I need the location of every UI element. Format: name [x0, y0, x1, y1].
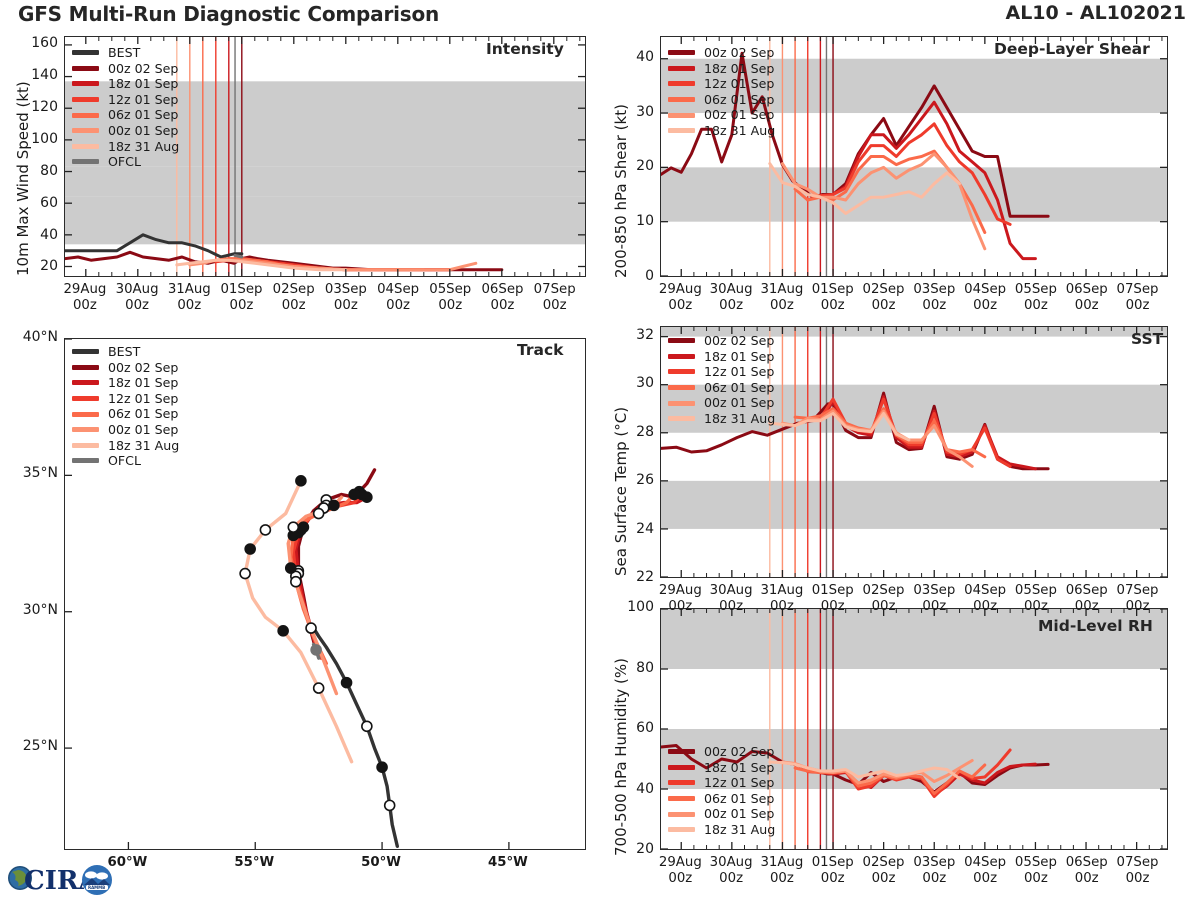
legend-item: 12z 01 Sep	[668, 364, 775, 380]
legend-label: 00z 01 Sep	[108, 123, 178, 139]
legend-label: 00z 01 Sep	[704, 107, 774, 123]
legend-label: BEST	[108, 45, 140, 61]
legend-swatch	[668, 369, 695, 374]
legend-shear: 00z 02 Sep18z 01 Sep12z 01 Sep06z 01 Sep…	[668, 45, 775, 139]
track-y-tick-label: 25°N	[0, 738, 58, 754]
legend-swatch	[668, 780, 695, 785]
legend-item: 18z 01 Sep	[668, 61, 775, 77]
rh-y-tick-label: 60	[614, 720, 654, 736]
legend-rh: 00z 02 Sep18z 01 Sep12z 01 Sep06z 01 Sep…	[668, 744, 775, 838]
legend-item: 12z 01 Sep	[668, 775, 775, 791]
legend-swatch	[72, 144, 99, 149]
legend-label: 12z 01 Sep	[704, 76, 774, 92]
track-y-tick-label: 40°N	[0, 329, 58, 345]
legend-swatch	[668, 827, 695, 832]
x-tick-date-label: 04Sep	[368, 282, 428, 297]
legend-swatch	[668, 354, 695, 359]
legend-swatch	[668, 416, 695, 421]
legend-label: 18z 01 Sep	[704, 760, 774, 776]
track-marker-12z	[240, 569, 250, 579]
sst-y-tick-label: 22	[614, 569, 654, 585]
legend-swatch	[668, 128, 695, 133]
legend-item: 00z 02 Sep	[668, 45, 775, 61]
sst-y-tick-label: 26	[614, 472, 654, 488]
x-tick-date-label: 06Sep	[472, 282, 532, 297]
legend-swatch	[72, 349, 99, 354]
legend-item: 18z 01 Sep	[668, 760, 775, 776]
x-tick-hour-label: 00z	[1108, 871, 1168, 886]
legend-label: 18z 31 Aug	[108, 139, 179, 155]
legend-swatch	[72, 81, 99, 86]
legend-label: OFCL	[108, 453, 141, 469]
intensity-y-tick-label: 20	[18, 258, 58, 274]
legend-swatch	[72, 66, 99, 71]
legend-label: 18z 31 Aug	[704, 123, 775, 139]
legend-label: 12z 01 Sep	[108, 92, 178, 108]
track-x-tick-label: 45°W	[480, 855, 536, 870]
rh-y-tick-label: 20	[614, 841, 654, 857]
legend-swatch	[668, 796, 695, 801]
sst-y-tick-label: 24	[614, 521, 654, 537]
track-x-tick-label: 50°W	[353, 855, 409, 870]
legend-label: 18z 01 Sep	[108, 375, 178, 391]
intensity-y-tick-label: 60	[18, 195, 58, 211]
track-marker-12z	[314, 683, 324, 693]
legend-item: 06z 01 Sep	[72, 107, 179, 123]
legend-label: 18z 01 Sep	[704, 61, 774, 77]
legend-item: 18z 31 Aug	[668, 123, 775, 139]
legend-swatch	[72, 97, 99, 102]
track-marker-12z	[306, 623, 316, 633]
cira-badge-text: RAMMB	[88, 885, 105, 890]
track-marker-12z	[385, 800, 395, 810]
x-tick-date-label: 07Sep	[1108, 583, 1168, 598]
legend-label: 00z 02 Sep	[108, 360, 178, 376]
shear-y-tick-label: 20	[614, 158, 654, 174]
legend-item: OFCL	[72, 453, 179, 469]
x-tick-hour-label: 00z	[211, 298, 271, 313]
track-marker-12z	[260, 525, 270, 535]
intensity-y-tick-label: 120	[18, 99, 58, 115]
legend-swatch	[668, 113, 695, 118]
track-marker-00z	[278, 626, 288, 636]
legend-swatch	[72, 50, 99, 55]
legend-track: BEST00z 02 Sep18z 01 Sep12z 01 Sep06z 01…	[72, 344, 179, 469]
legend-item: 00z 02 Sep	[72, 360, 179, 376]
x-tick-date-label: 03Sep	[316, 282, 376, 297]
intensity-y-tick-label: 140	[18, 67, 58, 83]
legend-item: 00z 01 Sep	[668, 107, 775, 123]
legend-label: 00z 01 Sep	[704, 806, 774, 822]
legend-label: 06z 01 Sep	[108, 406, 178, 422]
legend-intensity: BEST00z 02 Sep18z 01 Sep12z 01 Sep06z 01…	[72, 45, 179, 170]
legend-swatch	[668, 50, 695, 55]
track-y-tick-label: 30°N	[0, 602, 58, 618]
legend-label: 06z 01 Sep	[108, 107, 178, 123]
legend-label: 18z 31 Aug	[108, 438, 179, 454]
x-tick-hour-label: 00z	[525, 298, 585, 313]
legend-label: BEST	[108, 344, 140, 360]
track-marker-00z	[329, 500, 339, 510]
x-tick-date-label: 01Sep	[211, 282, 271, 297]
legend-swatch	[72, 396, 99, 401]
legend-item: 18z 01 Sep	[72, 76, 179, 92]
legend-swatch	[668, 66, 695, 71]
legend-label: 06z 01 Sep	[704, 92, 774, 108]
legend-sst: 00z 02 Sep18z 01 Sep12z 01 Sep06z 01 Sep…	[668, 333, 775, 427]
rh-y-tick-label: 80	[614, 660, 654, 676]
legend-label: 00z 02 Sep	[108, 61, 178, 77]
legend-label: 12z 01 Sep	[704, 364, 774, 380]
x-tick-hour-label: 00z	[159, 298, 219, 313]
page-title: GFS Multi-Run Diagnostic Comparison	[18, 2, 439, 26]
legend-item: 18z 31 Aug	[72, 139, 179, 155]
legend-item: 00z 02 Sep	[72, 61, 179, 77]
track-marker-00z	[311, 645, 321, 655]
track-marker-00z	[377, 762, 387, 772]
legend-swatch	[72, 113, 99, 118]
legend-item: 00z 02 Sep	[668, 333, 775, 349]
x-tick-date-label: 29Aug	[55, 282, 115, 297]
shear-y-tick-label: 40	[614, 49, 654, 65]
legend-swatch	[72, 380, 99, 385]
storm-id-title: AL10 - AL102021	[1006, 2, 1187, 24]
legend-swatch	[668, 812, 695, 817]
legend-item: 00z 01 Sep	[668, 806, 775, 822]
legend-label: 06z 01 Sep	[704, 380, 774, 396]
x-tick-hour-label: 00z	[55, 298, 115, 313]
legend-swatch	[72, 427, 99, 432]
track-y-tick-label: 35°N	[0, 465, 58, 481]
legend-swatch	[668, 97, 695, 102]
legend-swatch	[72, 412, 99, 417]
legend-item: 18z 01 Sep	[668, 349, 775, 365]
legend-label: 00z 02 Sep	[704, 45, 774, 61]
x-tick-hour-label: 00z	[472, 298, 532, 313]
x-tick-hour-label: 00z	[107, 298, 167, 313]
legend-item: BEST	[72, 344, 179, 360]
x-tick-date-label: 31Aug	[159, 282, 219, 297]
legend-item: 06z 01 Sep	[668, 380, 775, 396]
legend-swatch	[72, 159, 99, 164]
legend-item: 00z 01 Sep	[72, 123, 179, 139]
x-tick-hour-label: 00z	[1108, 298, 1168, 313]
legend-label: 06z 01 Sep	[704, 791, 774, 807]
x-tick-hour-label: 00z	[420, 298, 480, 313]
intensity-y-tick-label: 80	[18, 163, 58, 179]
track-marker-12z	[288, 522, 298, 532]
shaded-band	[65, 167, 585, 197]
legend-item: 00z 01 Sep	[72, 422, 179, 438]
legend-swatch	[72, 365, 99, 370]
intensity-y-tick-label: 100	[18, 131, 58, 147]
sst-panel-title: SST	[1131, 330, 1163, 348]
legend-item: 18z 31 Aug	[668, 822, 775, 838]
legend-item: 00z 01 Sep	[668, 395, 775, 411]
legend-item: 18z 31 Aug	[72, 438, 179, 454]
intensity-y-tick-label: 160	[18, 35, 58, 51]
shear-y-tick-label: 10	[614, 213, 654, 229]
rh-panel-title: Mid-Level RH	[1038, 617, 1153, 635]
x-tick-hour-label: 00z	[264, 298, 324, 313]
track-marker-12z	[314, 509, 324, 519]
shear-y-axis-label: 200-850 hPa Shear (kt)	[612, 104, 630, 278]
legend-item: 06z 01 Sep	[72, 406, 179, 422]
legend-label: 12z 01 Sep	[704, 775, 774, 791]
legend-swatch	[668, 765, 695, 770]
intensity-y-tick-label: 40	[18, 227, 58, 243]
sst-y-tick-label: 28	[614, 424, 654, 440]
x-tick-date-label: 02Sep	[264, 282, 324, 297]
legend-label: OFCL	[108, 154, 141, 170]
legend-swatch	[668, 749, 695, 754]
series-line	[235, 255, 242, 257]
legend-label: 18z 31 Aug	[704, 822, 775, 838]
x-tick-date-label: 05Sep	[420, 282, 480, 297]
legend-swatch	[668, 385, 695, 390]
legend-item: 12z 01 Sep	[72, 391, 179, 407]
sst-y-tick-label: 32	[614, 327, 654, 343]
shaded-band	[65, 197, 585, 244]
legend-item: BEST	[72, 45, 179, 61]
legend-item: 00z 02 Sep	[668, 744, 775, 760]
legend-item: 18z 01 Sep	[72, 375, 179, 391]
x-tick-date-label: 30Aug	[107, 282, 167, 297]
x-tick-date-label: 07Sep	[1108, 855, 1168, 870]
legend-item: 18z 31 Aug	[668, 411, 775, 427]
track-marker-00z	[342, 678, 352, 688]
sst-y-tick-label: 30	[614, 375, 654, 391]
rh-y-axis-label: 700-500 hPa Humidity (%)	[612, 658, 630, 856]
legend-label: 18z 01 Sep	[704, 349, 774, 365]
track-marker-00z	[286, 563, 296, 573]
track-marker-00z	[349, 489, 359, 499]
x-tick-hour-label: 00z	[368, 298, 428, 313]
legend-item: 06z 01 Sep	[668, 791, 775, 807]
legend-label: 00z 01 Sep	[108, 422, 178, 438]
cira-logo: CIRA RAMMB	[4, 858, 116, 898]
shear-y-tick-label: 30	[614, 104, 654, 120]
legend-item: 06z 01 Sep	[668, 92, 775, 108]
track-panel-title: Track	[517, 341, 563, 359]
legend-label: 00z 01 Sep	[704, 395, 774, 411]
legend-label: 12z 01 Sep	[108, 391, 178, 407]
legend-label: 18z 01 Sep	[108, 76, 178, 92]
shear-panel-title: Deep-Layer Shear	[994, 40, 1150, 58]
track-marker-00z	[245, 544, 255, 554]
legend-label: 00z 02 Sep	[704, 744, 774, 760]
legend-item: 12z 01 Sep	[72, 92, 179, 108]
legend-swatch	[72, 443, 99, 448]
x-tick-hour-label: 00z	[316, 298, 376, 313]
track-x-tick-label: 55°W	[226, 855, 282, 870]
track-marker-00z	[296, 476, 306, 486]
legend-item: OFCL	[72, 154, 179, 170]
legend-label: 00z 02 Sep	[704, 333, 774, 349]
shaded-band	[661, 481, 1167, 529]
x-tick-date-label: 07Sep	[525, 282, 585, 297]
legend-swatch	[72, 128, 99, 133]
x-tick-date-label: 07Sep	[1108, 282, 1168, 297]
legend-swatch	[668, 338, 695, 343]
track-marker-12z	[362, 721, 372, 731]
legend-swatch	[668, 401, 695, 406]
track-marker-12z	[291, 577, 301, 587]
rh-y-tick-label: 40	[614, 781, 654, 797]
legend-label: 18z 31 Aug	[704, 411, 775, 427]
rh-y-tick-label: 100	[614, 599, 654, 615]
intensity-panel-title: Intensity	[486, 40, 564, 58]
legend-item: 12z 01 Sep	[668, 76, 775, 92]
shear-y-tick-label: 0	[614, 268, 654, 284]
legend-swatch	[668, 81, 695, 86]
legend-swatch	[72, 458, 99, 463]
x-tick-hour-label: 00z	[1108, 599, 1168, 614]
